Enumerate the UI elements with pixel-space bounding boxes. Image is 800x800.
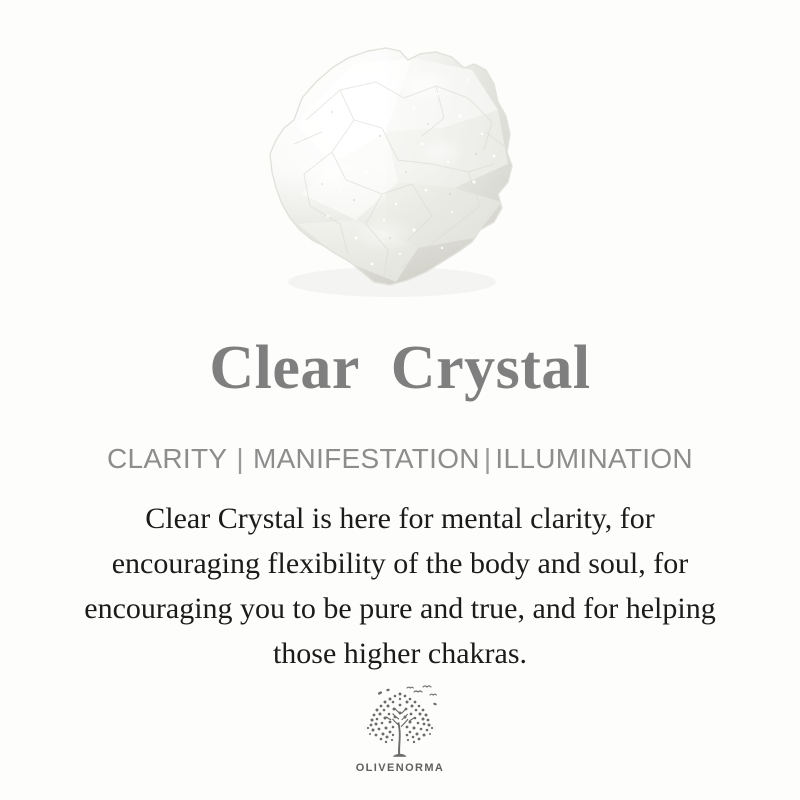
product-card: Clear Crystal CLARITY|MANIFESTATION|ILLU… xyxy=(0,0,800,800)
description-line: Clear Crystal is here for mental clarity… xyxy=(50,496,750,541)
product-description: Clear Crystal is here for mental clarity… xyxy=(50,496,750,676)
product-keywords: CLARITY|MANIFESTATION|ILLUMINATION xyxy=(0,442,800,476)
brand-name: OLIVENORMA xyxy=(0,762,800,774)
product-title: Clear Crystal xyxy=(0,332,800,404)
keyword-manifestation: MANIFESTATION xyxy=(253,443,480,474)
clear-crystal-image xyxy=(236,24,532,300)
description-line: encouraging flexibility of the body and … xyxy=(50,541,750,586)
keyword-separator-1: | xyxy=(227,443,253,474)
keyword-clarity: CLARITY xyxy=(107,443,227,474)
keyword-illumination: ILLUMINATION xyxy=(495,443,693,474)
brand-logo: OLIVENORMA xyxy=(0,684,800,774)
tree-of-life-icon xyxy=(357,684,443,760)
description-line: encouraging you to be pure and true, and… xyxy=(50,586,750,631)
description-line: those higher chakras. xyxy=(50,631,750,676)
product-image-area xyxy=(0,0,800,310)
keyword-separator-2: | xyxy=(480,443,496,474)
